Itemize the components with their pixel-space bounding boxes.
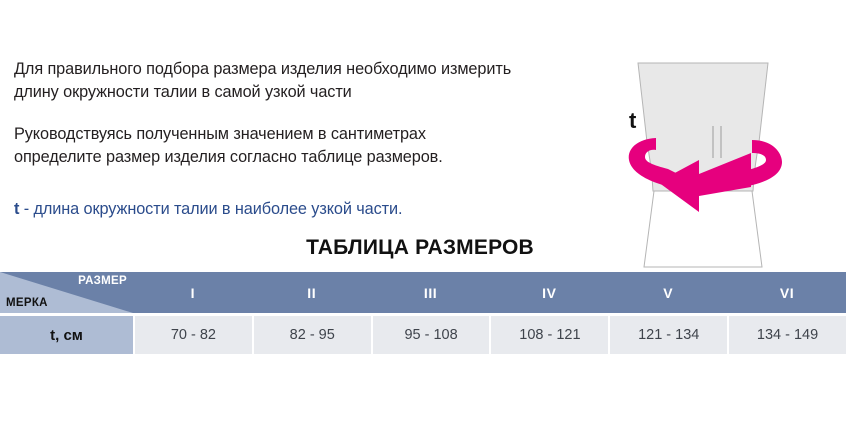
column-header-1: I	[133, 272, 252, 313]
cell-size-2: 82 - 95	[252, 316, 371, 354]
column-header-4: IV	[489, 272, 608, 313]
column-header-5: V	[608, 272, 727, 313]
cell-size-6: 134 - 149	[727, 316, 846, 354]
table-header-row: РАЗМЕР МЕРКА I II III IV V VI	[0, 272, 846, 313]
cell-size-5: 121 - 134	[608, 316, 727, 354]
table-title: ТАБЛИЦА РАЗМЕРОВ	[0, 236, 846, 260]
column-header-6: VI	[727, 272, 846, 313]
size-table: РАЗМЕР МЕРКА I II III IV V VI t, см 70 -…	[0, 272, 846, 354]
table-corner-cell: РАЗМЕР МЕРКА	[0, 272, 133, 313]
column-header-2: II	[252, 272, 371, 313]
instruction-paragraph-1: Для правильного подбора размера изделия …	[14, 58, 514, 103]
corner-size-label: РАЗМЕР	[78, 275, 127, 287]
size-guide-page: Для правильного подбора размера изделия …	[0, 0, 846, 423]
column-header-3: III	[371, 272, 490, 313]
legend-line: t - длина окружности талии в наиболее уз…	[14, 198, 534, 220]
row-header-waist: t, см	[0, 316, 133, 354]
corner-measure-label: МЕРКА	[6, 297, 48, 309]
legend-description: - длина окружности талии в наиболее узко…	[19, 200, 402, 218]
cell-size-1: 70 - 82	[133, 316, 252, 354]
measure-label-t: t	[629, 110, 636, 132]
instruction-paragraph-2: Руководствуясь полученным значением в са…	[14, 123, 514, 168]
table-row: t, см 70 - 82 82 - 95 95 - 108 108 - 121…	[0, 316, 846, 354]
table-title-text: ТАБЛИЦА РАЗМЕРОВ	[306, 236, 534, 260]
instructions-block: Для правильного подбора размера изделия …	[14, 58, 514, 168]
cell-size-3: 95 - 108	[371, 316, 490, 354]
cell-size-4: 108 - 121	[489, 316, 608, 354]
